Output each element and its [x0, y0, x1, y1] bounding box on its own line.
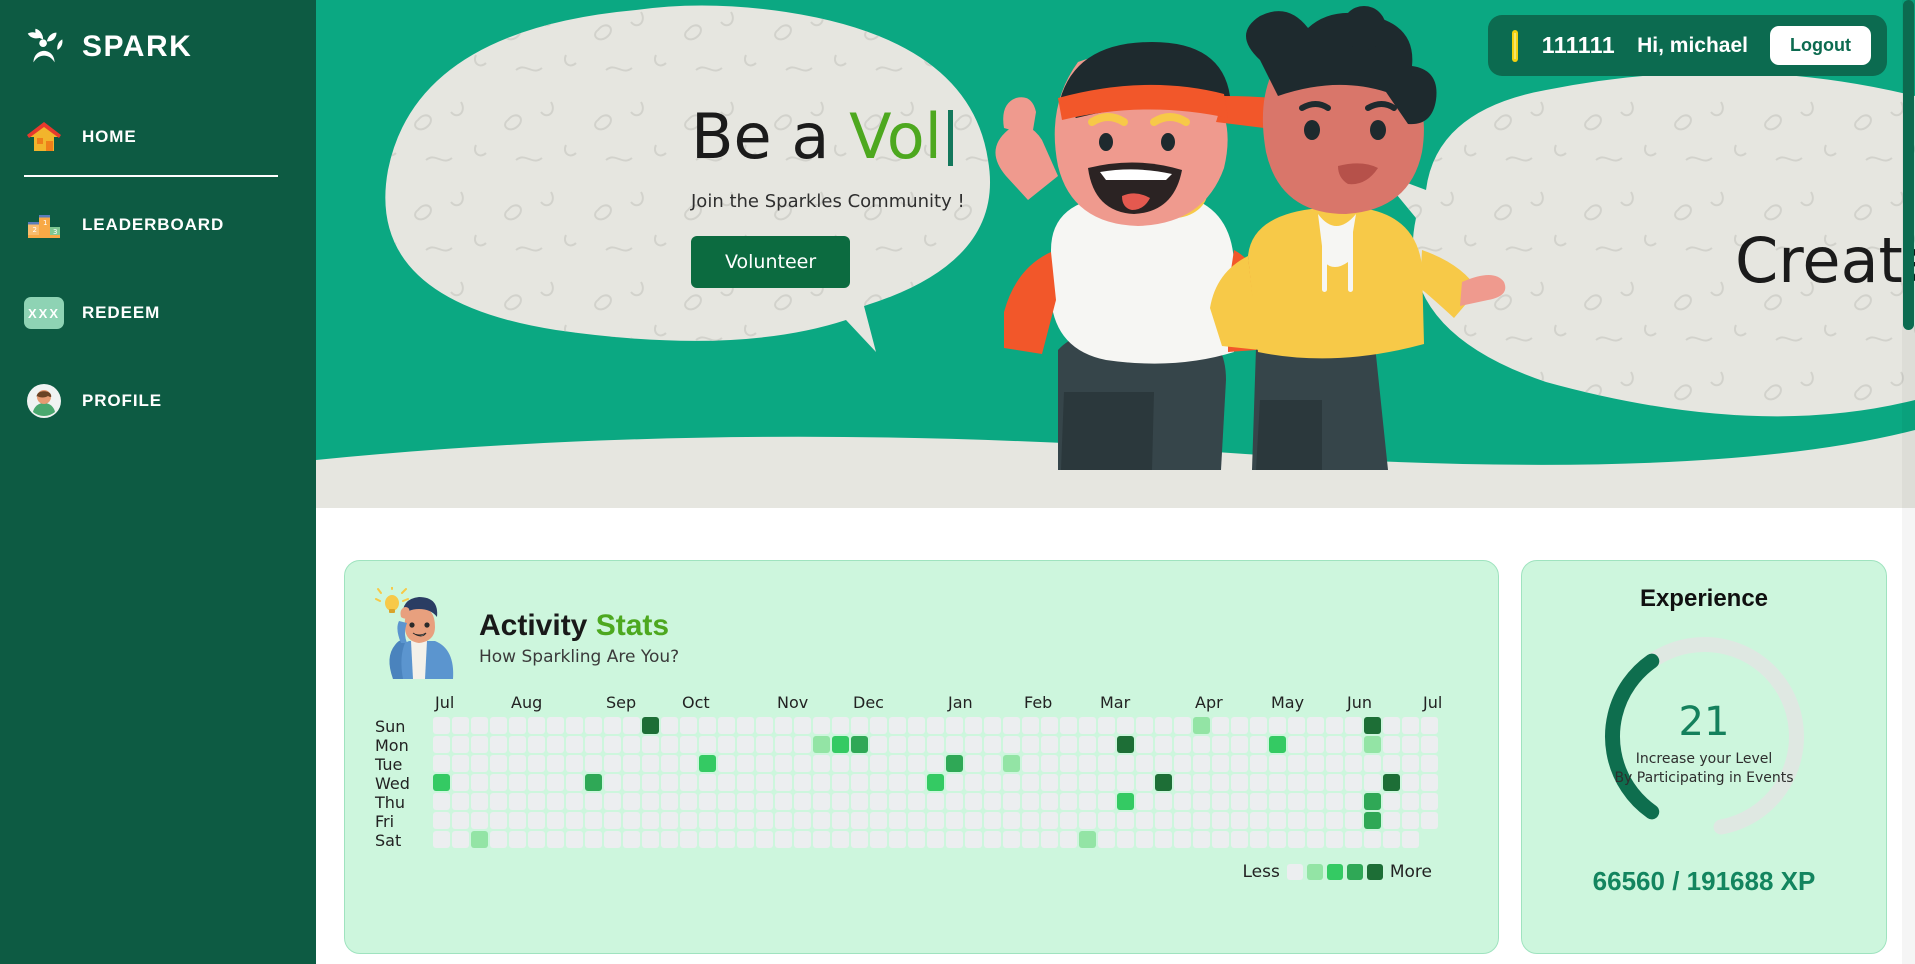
heatmap-cell[interactable] [604, 793, 621, 810]
heatmap-cell[interactable] [509, 774, 526, 791]
heatmap-cell[interactable] [984, 736, 1001, 753]
heatmap-cell[interactable] [661, 717, 678, 734]
heatmap-cell[interactable] [680, 736, 697, 753]
heatmap-cell[interactable] [965, 812, 982, 829]
heatmap-cell[interactable] [908, 774, 925, 791]
heatmap-cell[interactable] [1003, 793, 1020, 810]
heatmap-cell[interactable] [832, 736, 849, 753]
heatmap-cell[interactable] [1326, 831, 1343, 848]
heatmap-cell[interactable] [1193, 736, 1210, 753]
heatmap-cell[interactable] [965, 793, 982, 810]
heatmap-cell[interactable] [794, 774, 811, 791]
heatmap-cell[interactable] [1098, 736, 1115, 753]
heatmap-cell[interactable] [585, 831, 602, 848]
heatmap-cell[interactable] [1288, 736, 1305, 753]
heatmap-cell[interactable] [1269, 774, 1286, 791]
heatmap-cell[interactable] [908, 831, 925, 848]
heatmap-cell[interactable] [737, 755, 754, 772]
heatmap-cell[interactable] [737, 736, 754, 753]
heatmap-cell[interactable] [528, 812, 545, 829]
heatmap-cell[interactable] [1174, 831, 1191, 848]
heatmap-cell[interactable] [1022, 793, 1039, 810]
heatmap-cell[interactable] [1098, 755, 1115, 772]
heatmap-cell[interactable] [642, 793, 659, 810]
heatmap-cell[interactable] [699, 717, 716, 734]
heatmap-cell[interactable] [1079, 717, 1096, 734]
heatmap-cell[interactable] [509, 755, 526, 772]
heatmap-cell[interactable] [984, 793, 1001, 810]
heatmap-cell[interactable] [471, 717, 488, 734]
heatmap-cell[interactable] [1212, 812, 1229, 829]
heatmap-cell[interactable] [1136, 793, 1153, 810]
heatmap-cell[interactable] [642, 755, 659, 772]
heatmap-cell[interactable] [585, 736, 602, 753]
heatmap-cell[interactable] [452, 755, 469, 772]
heatmap-cell[interactable] [699, 774, 716, 791]
heatmap-cell[interactable] [1421, 812, 1438, 829]
heatmap-cell[interactable] [1307, 755, 1324, 772]
heatmap-cell[interactable] [566, 774, 583, 791]
heatmap-cell[interactable] [680, 831, 697, 848]
heatmap-cell[interactable] [889, 717, 906, 734]
heatmap-cell[interactable] [1250, 717, 1267, 734]
heatmap-cell[interactable] [452, 774, 469, 791]
heatmap-cell[interactable] [775, 812, 792, 829]
heatmap-cell[interactable] [1041, 793, 1058, 810]
heatmap-cell[interactable] [1383, 717, 1400, 734]
heatmap-cell[interactable] [1402, 812, 1419, 829]
heatmap-cell[interactable] [889, 736, 906, 753]
heatmap-cell[interactable] [699, 812, 716, 829]
heatmap-cell[interactable] [1136, 774, 1153, 791]
heatmap-cell[interactable] [965, 774, 982, 791]
heatmap-cell[interactable] [452, 793, 469, 810]
heatmap-cell[interactable] [1421, 755, 1438, 772]
heatmap-cell[interactable] [623, 812, 640, 829]
heatmap-cell[interactable] [1117, 755, 1134, 772]
heatmap-cell[interactable] [832, 812, 849, 829]
heatmap-cell[interactable] [1421, 774, 1438, 791]
heatmap-cell[interactable] [1174, 793, 1191, 810]
heatmap-cell[interactable] [1041, 717, 1058, 734]
heatmap-cell[interactable] [813, 717, 830, 734]
heatmap-cell[interactable] [471, 755, 488, 772]
heatmap-cell[interactable] [851, 717, 868, 734]
heatmap-cell[interactable] [1231, 717, 1248, 734]
heatmap-cell[interactable] [433, 831, 450, 848]
heatmap-cell[interactable] [1022, 812, 1039, 829]
heatmap-cell[interactable] [1003, 717, 1020, 734]
heatmap-cell[interactable] [1212, 736, 1229, 753]
heatmap-cell[interactable] [927, 774, 944, 791]
heatmap-cell[interactable] [1193, 755, 1210, 772]
heatmap-cell[interactable] [585, 812, 602, 829]
heatmap-cell[interactable] [1079, 812, 1096, 829]
heatmap-cell[interactable] [1288, 831, 1305, 848]
heatmap-cell[interactable] [1269, 755, 1286, 772]
heatmap-cell[interactable] [775, 736, 792, 753]
heatmap-cell[interactable] [718, 831, 735, 848]
heatmap-cell[interactable] [509, 812, 526, 829]
heatmap-cell[interactable] [1231, 736, 1248, 753]
heatmap-cell[interactable] [547, 831, 564, 848]
heatmap-cell[interactable] [851, 774, 868, 791]
heatmap-cell[interactable] [794, 736, 811, 753]
heatmap-cell[interactable] [1003, 736, 1020, 753]
heatmap-cell[interactable] [433, 774, 450, 791]
heatmap-cell[interactable] [1402, 717, 1419, 734]
heatmap-cell[interactable] [566, 755, 583, 772]
heatmap-cell[interactable] [1022, 717, 1039, 734]
heatmap-cell[interactable] [528, 774, 545, 791]
heatmap-cell[interactable] [623, 831, 640, 848]
heatmap-cell[interactable] [1364, 736, 1381, 753]
heatmap-cell[interactable] [585, 717, 602, 734]
heatmap-cell[interactable] [471, 812, 488, 829]
heatmap-cell[interactable] [908, 793, 925, 810]
heatmap-cell[interactable] [1269, 736, 1286, 753]
heatmap-cell[interactable] [1307, 717, 1324, 734]
sidebar-item-redeem[interactable]: XXX REDEEM [0, 280, 316, 346]
heatmap-cell[interactable] [1098, 831, 1115, 848]
heatmap-cell[interactable] [1364, 755, 1381, 772]
heatmap-cell[interactable] [946, 774, 963, 791]
heatmap-cell[interactable] [1383, 736, 1400, 753]
heatmap-cell[interactable] [604, 755, 621, 772]
heatmap-cell[interactable] [509, 736, 526, 753]
heatmap-cell[interactable] [1345, 793, 1362, 810]
heatmap-cell[interactable] [1155, 793, 1172, 810]
heatmap-cell[interactable] [1022, 831, 1039, 848]
heatmap-cell[interactable] [1364, 793, 1381, 810]
heatmap-cell[interactable] [1364, 774, 1381, 791]
heatmap-cell[interactable] [927, 755, 944, 772]
heatmap-cell[interactable] [927, 717, 944, 734]
heatmap-cell[interactable] [1383, 755, 1400, 772]
heatmap-cell[interactable] [908, 736, 925, 753]
heatmap-cell[interactable] [623, 755, 640, 772]
heatmap-cell[interactable] [1231, 774, 1248, 791]
heatmap-cell[interactable] [471, 736, 488, 753]
heatmap-cell[interactable] [1060, 774, 1077, 791]
heatmap-cell[interactable] [889, 755, 906, 772]
heatmap-cell[interactable] [433, 812, 450, 829]
heatmap-cell[interactable] [547, 793, 564, 810]
heatmap-cell[interactable] [1098, 793, 1115, 810]
heatmap-cell[interactable] [452, 717, 469, 734]
heatmap-cell[interactable] [1060, 736, 1077, 753]
heatmap-cell[interactable] [870, 812, 887, 829]
heatmap-cell[interactable] [889, 812, 906, 829]
heatmap-cell[interactable] [946, 793, 963, 810]
heatmap-cell[interactable] [1041, 755, 1058, 772]
heatmap-cell[interactable] [718, 755, 735, 772]
heatmap-cell[interactable] [756, 774, 773, 791]
heatmap-cell[interactable] [1307, 736, 1324, 753]
heatmap-cell[interactable] [623, 736, 640, 753]
heatmap-cell[interactable] [851, 831, 868, 848]
heatmap-cell[interactable] [965, 831, 982, 848]
heatmap-cell[interactable] [965, 736, 982, 753]
heatmap-cell[interactable] [1136, 831, 1153, 848]
scrollbar-thumb[interactable] [1903, 0, 1914, 330]
heatmap-cell[interactable] [718, 793, 735, 810]
heatmap-cell[interactable] [946, 755, 963, 772]
heatmap-cell[interactable] [566, 793, 583, 810]
heatmap-cell[interactable] [1003, 774, 1020, 791]
heatmap-cell[interactable] [1212, 831, 1229, 848]
heatmap-cell[interactable] [984, 717, 1001, 734]
heatmap-cell[interactable] [813, 812, 830, 829]
heatmap-cell[interactable] [471, 793, 488, 810]
heatmap-cell[interactable] [927, 831, 944, 848]
heatmap-cell[interactable] [851, 755, 868, 772]
heatmap-cell[interactable] [1364, 831, 1381, 848]
heatmap-cell[interactable] [585, 755, 602, 772]
heatmap-cell[interactable] [471, 774, 488, 791]
heatmap-cell[interactable] [927, 736, 944, 753]
heatmap-cell[interactable] [1155, 831, 1172, 848]
heatmap-cell[interactable] [1269, 717, 1286, 734]
heatmap-cell[interactable] [1250, 793, 1267, 810]
heatmap-cell[interactable] [490, 736, 507, 753]
heatmap-cell[interactable] [1079, 793, 1096, 810]
heatmap-cell[interactable] [1231, 755, 1248, 772]
heatmap-cell[interactable] [1231, 793, 1248, 810]
heatmap-cell[interactable] [946, 831, 963, 848]
heatmap-cell[interactable] [775, 774, 792, 791]
heatmap-cell[interactable] [1136, 717, 1153, 734]
heatmap-cell[interactable] [547, 774, 564, 791]
heatmap-cell[interactable] [490, 717, 507, 734]
heatmap-cell[interactable] [832, 774, 849, 791]
heatmap-cell[interactable] [1022, 736, 1039, 753]
heatmap-cell[interactable] [832, 755, 849, 772]
heatmap-cell[interactable] [889, 774, 906, 791]
heatmap-cell[interactable] [1288, 774, 1305, 791]
heatmap-cell[interactable] [661, 812, 678, 829]
heatmap-cell[interactable] [433, 793, 450, 810]
heatmap-cell[interactable] [642, 812, 659, 829]
heatmap-cell[interactable] [1402, 755, 1419, 772]
heatmap-cell[interactable] [1212, 717, 1229, 734]
heatmap-cell[interactable] [604, 774, 621, 791]
heatmap-cell[interactable] [1022, 755, 1039, 772]
heatmap-cell[interactable] [1288, 812, 1305, 829]
heatmap-cell[interactable] [832, 831, 849, 848]
heatmap-cell[interactable] [1250, 812, 1267, 829]
heatmap-cell[interactable] [490, 831, 507, 848]
heatmap-cell[interactable] [1326, 793, 1343, 810]
heatmap-cell[interactable] [528, 736, 545, 753]
heatmap-cell[interactable] [1402, 736, 1419, 753]
heatmap-cell[interactable] [642, 717, 659, 734]
heatmap-cell[interactable] [794, 793, 811, 810]
heatmap-cell[interactable] [528, 793, 545, 810]
heatmap-cell[interactable] [1345, 774, 1362, 791]
heatmap-cell[interactable] [908, 755, 925, 772]
heatmap-cell[interactable] [1307, 812, 1324, 829]
heatmap-cell[interactable] [908, 717, 925, 734]
heatmap-cell[interactable] [547, 717, 564, 734]
heatmap-cell[interactable] [1421, 793, 1438, 810]
heatmap-cell[interactable] [737, 774, 754, 791]
heatmap-cell[interactable] [813, 793, 830, 810]
heatmap-cell[interactable] [1421, 736, 1438, 753]
heatmap-cell[interactable] [927, 793, 944, 810]
heatmap-cell[interactable] [1060, 755, 1077, 772]
heatmap-cell[interactable] [813, 736, 830, 753]
heatmap-cell[interactable] [547, 812, 564, 829]
heatmap-cell[interactable] [813, 831, 830, 848]
heatmap-cell[interactable] [1193, 717, 1210, 734]
heatmap-cell[interactable] [1117, 736, 1134, 753]
heatmap-cell[interactable] [1307, 774, 1324, 791]
heatmap-cell[interactable] [1041, 831, 1058, 848]
heatmap-cell[interactable] [1155, 774, 1172, 791]
heatmap-cell[interactable] [1060, 793, 1077, 810]
heatmap-cell[interactable] [1288, 717, 1305, 734]
heatmap-cell[interactable] [585, 793, 602, 810]
heatmap-cell[interactable] [661, 831, 678, 848]
heatmap-cell[interactable] [642, 831, 659, 848]
heatmap-cell[interactable] [851, 736, 868, 753]
heatmap-cell[interactable] [1136, 755, 1153, 772]
heatmap-cell[interactable] [737, 793, 754, 810]
heatmap-cell[interactable] [528, 831, 545, 848]
heatmap-cell[interactable] [528, 755, 545, 772]
heatmap-cell[interactable] [1402, 774, 1419, 791]
heatmap-cell[interactable] [509, 717, 526, 734]
heatmap-cell[interactable] [1250, 774, 1267, 791]
heatmap-cell[interactable] [737, 831, 754, 848]
heatmap-cell[interactable] [1307, 831, 1324, 848]
heatmap-cell[interactable] [1402, 793, 1419, 810]
heatmap-cell[interactable] [1003, 755, 1020, 772]
heatmap-cell[interactable] [661, 793, 678, 810]
heatmap-cell[interactable] [1364, 812, 1381, 829]
heatmap-cell[interactable] [1174, 755, 1191, 772]
heatmap-cell[interactable] [566, 812, 583, 829]
sidebar-item-profile[interactable]: PROFILE [0, 368, 316, 434]
heatmap-cell[interactable] [1326, 755, 1343, 772]
heatmap-cell[interactable] [870, 831, 887, 848]
heatmap-cell[interactable] [756, 812, 773, 829]
heatmap-cell[interactable] [984, 774, 1001, 791]
heatmap-cell[interactable] [984, 755, 1001, 772]
heatmap-cell[interactable] [1345, 831, 1362, 848]
heatmap-cell[interactable] [1174, 774, 1191, 791]
heatmap-cell[interactable] [1212, 755, 1229, 772]
heatmap-cell[interactable] [1421, 717, 1438, 734]
heatmap-cell[interactable] [1117, 831, 1134, 848]
heatmap-cell[interactable] [794, 831, 811, 848]
heatmap-cell[interactable] [680, 812, 697, 829]
heatmap-cell[interactable] [870, 755, 887, 772]
heatmap-cell[interactable] [1383, 831, 1400, 848]
heatmap-cell[interactable] [1345, 755, 1362, 772]
heatmap-cell[interactable] [680, 755, 697, 772]
heatmap-cell[interactable] [642, 736, 659, 753]
heatmap-cell[interactable] [433, 717, 450, 734]
heatmap-cell[interactable] [490, 755, 507, 772]
heatmap-cell[interactable] [604, 717, 621, 734]
heatmap-cell[interactable] [547, 736, 564, 753]
sidebar-item-leaderboard[interactable]: 2 1 3 LEADERBOARD [0, 192, 316, 258]
heatmap-cell[interactable] [1402, 831, 1419, 848]
heatmap-cell[interactable] [1326, 812, 1343, 829]
heatmap-cell[interactable] [1250, 755, 1267, 772]
heatmap-cell[interactable] [718, 717, 735, 734]
heatmap-cell[interactable] [775, 717, 792, 734]
heatmap-cell[interactable] [661, 755, 678, 772]
heatmap-cell[interactable] [1060, 717, 1077, 734]
heatmap-cell[interactable] [699, 736, 716, 753]
heatmap-cell[interactable] [1041, 812, 1058, 829]
heatmap-cell[interactable] [566, 736, 583, 753]
heatmap-cell[interactable] [1079, 755, 1096, 772]
heatmap-cell[interactable] [1003, 831, 1020, 848]
heatmap-cell[interactable] [946, 717, 963, 734]
logout-button[interactable]: Logout [1770, 26, 1871, 65]
heatmap-cell[interactable] [1079, 774, 1096, 791]
heatmap-cell[interactable] [794, 717, 811, 734]
heatmap-cell[interactable] [1174, 812, 1191, 829]
heatmap-cell[interactable] [699, 755, 716, 772]
heatmap-cell[interactable] [1269, 793, 1286, 810]
heatmap-cell[interactable] [661, 774, 678, 791]
heatmap-cell[interactable] [718, 812, 735, 829]
heatmap-cell[interactable] [1079, 831, 1096, 848]
heatmap-cell[interactable] [965, 755, 982, 772]
heatmap-cell[interactable] [604, 812, 621, 829]
heatmap-cell[interactable] [984, 831, 1001, 848]
heatmap-cell[interactable] [680, 717, 697, 734]
heatmap-cell[interactable] [433, 755, 450, 772]
heatmap-cell[interactable] [889, 793, 906, 810]
heatmap-cell[interactable] [946, 736, 963, 753]
heatmap-cell[interactable] [1060, 831, 1077, 848]
heatmap-cell[interactable] [737, 717, 754, 734]
heatmap-cell[interactable] [1174, 736, 1191, 753]
heatmap-cell[interactable] [775, 793, 792, 810]
heatmap-cell[interactable] [1345, 812, 1362, 829]
heatmap-cell[interactable] [1250, 831, 1267, 848]
heatmap-cell[interactable] [851, 812, 868, 829]
heatmap-cell[interactable] [1326, 774, 1343, 791]
heatmap-cell[interactable] [604, 831, 621, 848]
heatmap-cell[interactable] [1250, 736, 1267, 753]
heatmap-cell[interactable] [623, 717, 640, 734]
heatmap-cell[interactable] [813, 755, 830, 772]
heatmap-cell[interactable] [1307, 793, 1324, 810]
sidebar-item-home[interactable]: HOME [0, 104, 316, 170]
heatmap-cell[interactable] [870, 774, 887, 791]
heatmap-cell[interactable] [756, 793, 773, 810]
heatmap-cell[interactable] [1041, 774, 1058, 791]
heatmap-cell[interactable] [1079, 736, 1096, 753]
heatmap-cell[interactable] [756, 755, 773, 772]
heatmap-cell[interactable] [965, 717, 982, 734]
heatmap-cell[interactable] [1383, 812, 1400, 829]
heatmap-cell[interactable] [1174, 717, 1191, 734]
heatmap-cell[interactable] [1098, 717, 1115, 734]
heatmap-cell[interactable] [794, 812, 811, 829]
heatmap-cell[interactable] [1326, 717, 1343, 734]
heatmap-cell[interactable] [680, 774, 697, 791]
heatmap-cell[interactable] [1098, 774, 1115, 791]
heatmap-cell[interactable] [1155, 736, 1172, 753]
